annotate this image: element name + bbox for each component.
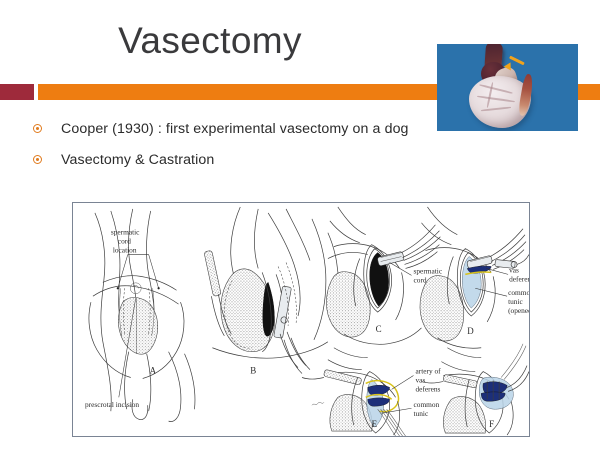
figure-label-spermatic-cord-line1: spermatic	[414, 266, 443, 275]
bullet-ring-icon	[33, 155, 42, 164]
incised-margin-graphic	[517, 73, 534, 116]
figure-panel-letter-b: B	[250, 366, 256, 376]
list-item: Cooper (1930) : first experimental vasec…	[33, 119, 423, 139]
figure-panel-a: spermatic cord location prescrotal incis…	[85, 209, 195, 422]
figure-label-spermatic-cord-location-line3: location	[113, 246, 137, 255]
figure-label-artery-of-vas-line3: deferens	[415, 384, 440, 393]
specimen-photo	[437, 44, 578, 131]
figure-label-common-tunic-opened-line1: common	[508, 288, 529, 297]
bullet-ring-icon	[33, 124, 42, 133]
list-item: Vasectomy & Castration	[33, 150, 423, 170]
bullet-text: Vasectomy & Castration	[61, 150, 214, 170]
figure-label-common-tunic-line2: tunic	[414, 409, 429, 418]
figure-panel-e: artery of vas deferens common tunic E	[302, 348, 441, 436]
figure-panel-letter-a: A	[150, 366, 157, 376]
figure-panel-letter-e: E	[372, 419, 378, 429]
accent-block-red	[0, 84, 34, 100]
bullet-list: Cooper (1930) : first experimental vasec…	[33, 119, 423, 181]
figure-panel: spermatic cord location prescrotal incis…	[72, 202, 530, 437]
figure-panel-d: vas deferens common tunic (opened) D	[420, 207, 529, 348]
figure-panel-letter-f: F	[489, 419, 494, 429]
figure-label-spermatic-cord-location-line1: spermatic	[111, 228, 140, 237]
figure-label-prescrotal-incision: prescrotal incision	[85, 400, 139, 409]
figure-label-spermatic-cord-location-line2: cord	[118, 237, 131, 246]
page-title: Vasectomy	[0, 22, 420, 61]
figure-label-common-tunic-line1: common	[414, 400, 440, 409]
slide-canvas: Vasectomy Cooper (1930) : first experime…	[0, 0, 600, 450]
figure-label-artery-of-vas-line2: vas	[415, 375, 425, 384]
figure-label-vas-deferens-line2: deferens	[509, 274, 529, 283]
figure-label-common-tunic-opened-line2: tunic	[508, 297, 523, 306]
figure-panel-letter-d: D	[467, 326, 474, 336]
surgical-steps-diagram: spermatic cord location prescrotal incis…	[73, 203, 529, 436]
figure-label-common-tunic-opened-line3: (opened)	[508, 306, 529, 315]
figure-label-artery-of-vas-line1: artery of	[415, 367, 441, 376]
figure-label-spermatic-cord-line2: cord	[414, 275, 427, 284]
figure-label-vas-deferens-line1: vas	[509, 265, 519, 274]
figure-panel-b: B	[204, 207, 338, 405]
figure-panel-letter-c: C	[376, 324, 382, 334]
bullet-text: Cooper (1930) : first experimental vasec…	[61, 119, 409, 139]
